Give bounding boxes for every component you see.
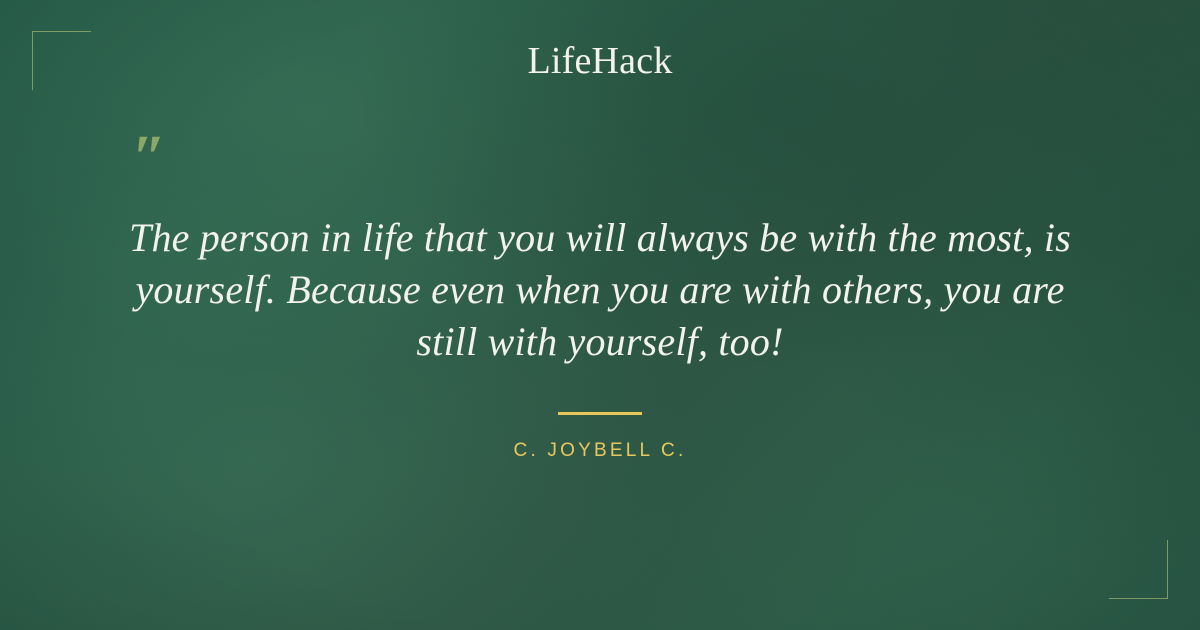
quote-author: C. JOYBELL C.	[100, 439, 1100, 463]
quote-content: ″ The person in life that you will alway…	[100, 136, 1100, 463]
quote-card: LifeHack ″ The person in life that you w…	[0, 0, 1200, 630]
quotation-mark-icon: ″	[132, 136, 1100, 184]
brand-logo: LifeHack	[0, 38, 1200, 84]
author-divider	[558, 412, 642, 415]
quote-text: The person in life that you will always …	[100, 212, 1100, 368]
corner-bracket-bottom-right-icon	[1109, 540, 1168, 599]
